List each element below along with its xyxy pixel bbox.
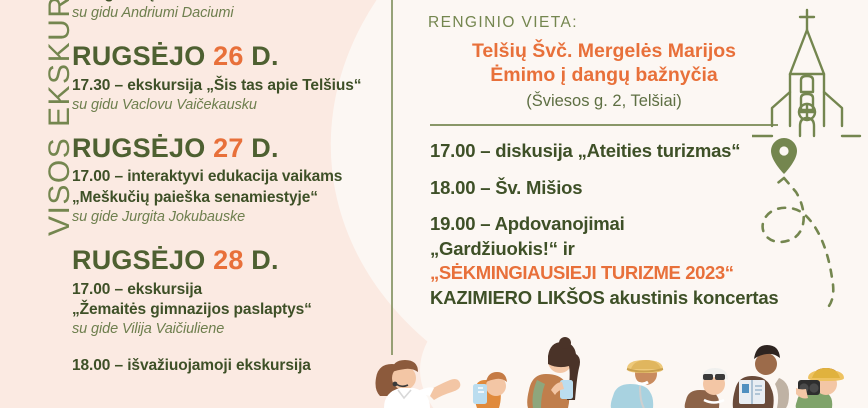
- figure-woman-sunglasses: [685, 368, 728, 408]
- dashed-route-icon: [763, 178, 834, 310]
- event-sep-26: RUGSĖJO 26 D. 17.30 – ekskursija „Šis ta…: [72, 42, 384, 116]
- column-divider: [391, 0, 393, 355]
- event-date-heading: RUGSĖJO 28 D.: [72, 246, 384, 276]
- poster-canvas: VISOS EKSKURSIJOS NEMOKAMOS Džiuginėnų d…: [0, 0, 868, 408]
- event-line: 17.00 – interaktyvi edukacija vaikams: [72, 167, 384, 187]
- event-date-heading: RUGSĖJO 26 D.: [72, 42, 384, 72]
- event-line: „Meškučių paieška senamiestyje“: [72, 188, 384, 208]
- figure-tour-guide: [376, 360, 461, 408]
- figure-child: [473, 372, 507, 408]
- tourists-illustration: [0, 328, 868, 408]
- figure-boy-camera: [796, 368, 844, 408]
- date-suffix: D.: [251, 245, 278, 275]
- date-month-word: RUGSĖJO: [72, 245, 205, 275]
- figure-man-hat: [611, 360, 663, 408]
- event-guide: su gidu Vaclovu Vaičekausku: [72, 96, 384, 116]
- event-guide: su gidu Andriumi Daciumi: [72, 4, 384, 24]
- event-guide: su gide Jurgita Jokubauske: [72, 208, 384, 228]
- date-suffix: D.: [251, 41, 278, 71]
- date-day-number: 27: [213, 133, 243, 163]
- date-day-number: 26: [213, 41, 243, 71]
- event-line: 17.30 – ekskursija „Šis tas apie Telšius…: [72, 76, 384, 96]
- venue-name-line-2: Ėmimo į dangų bažnyčia: [434, 64, 774, 88]
- venue-name: Telšių Švč. Mergelės Marijos Ėmimo į dan…: [434, 40, 774, 88]
- date-day-number: 28: [213, 245, 243, 275]
- event-line: 17.00 – ekskursija: [72, 280, 384, 300]
- venue-rule-divider: [430, 124, 778, 126]
- venue-label: RENGINIO VIETA:: [428, 14, 578, 32]
- figure-woman-phone: [527, 337, 580, 408]
- date-suffix: D.: [251, 133, 278, 163]
- venue-name-line-1: Telšių Švč. Mergelės Marijos: [434, 40, 774, 64]
- event-partial-top: Džiuginėnų dvare“ su gidu Andriumi Daciu…: [72, 0, 384, 24]
- event-sep-27: RUGSĖJO 27 D. 17.00 – interaktyvi edukac…: [72, 134, 384, 228]
- date-month-word: RUGSĖJO: [72, 41, 205, 71]
- event-line: „Žemaitės gimnazijos paslaptys“: [72, 300, 384, 320]
- event-date-heading: RUGSĖJO 27 D.: [72, 134, 384, 164]
- figure-man-map: [733, 345, 789, 408]
- date-month-word: RUGSĖJO: [72, 133, 205, 163]
- map-pin-icon: [760, 130, 868, 315]
- event-sep-28: RUGSĖJO 28 D. 17.00 – ekskursija „Žemait…: [72, 246, 384, 340]
- church-icon: [752, 8, 862, 143]
- venue-address: (Šviesos g. 2, Telšiai): [434, 92, 774, 111]
